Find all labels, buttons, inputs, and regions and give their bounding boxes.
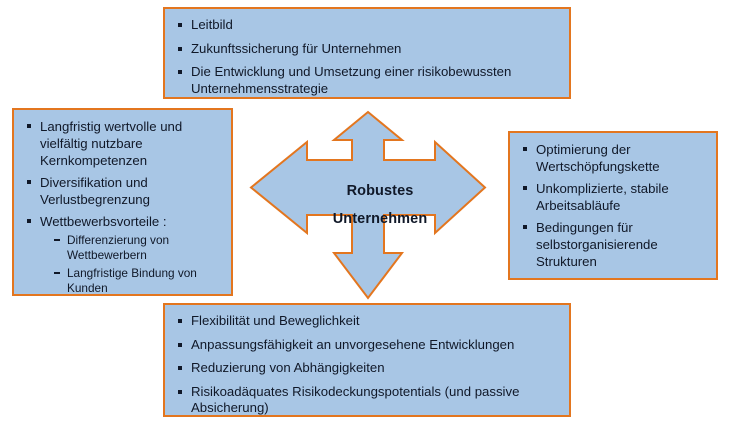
square-bullet-icon <box>523 147 527 151</box>
sub-list-item: Differenzierung von Wettbewerbern <box>54 233 221 263</box>
box-left-sub-bullet-list: Differenzierung von Wettbewerbern Langfr… <box>40 233 221 296</box>
four-way-arrow-polygon <box>251 112 485 298</box>
dash-bullet-icon <box>54 239 60 241</box>
dash-bullet-icon <box>54 272 60 274</box>
box-right: Optimierung der Wertschöpfungskette Unko… <box>508 131 718 280</box>
list-item: Anpassungsfähigkeit an unvorgesehene Ent… <box>177 337 559 354</box>
square-bullet-icon <box>178 366 182 370</box>
four-way-arrow-shape <box>248 110 488 300</box>
list-item: Bedingungen für selbstorganisierende Str… <box>522 219 706 270</box>
sub-list-item-text: Differenzierung von Wettbewerbern <box>67 233 169 262</box>
list-item: Langfristig wertvolle und vielfältig nut… <box>26 118 221 169</box>
list-item-text: Wettbewerbsvorteile : <box>40 214 167 229</box>
box-bottom-bullet-list: Flexibilität und Beweglichkeit Anpassung… <box>177 313 559 417</box>
box-left-bullet-list: Langfristig wertvolle und vielfältig nut… <box>26 118 221 296</box>
box-right-bullet-list: Optimierung der Wertschöpfungskette Unko… <box>522 141 706 270</box>
list-item: Zukunftssicherung für Unternehmen <box>177 41 559 58</box>
sub-list-item-text: Langfristige Bindung von Kunden <box>67 266 197 295</box>
square-bullet-icon <box>523 225 527 229</box>
list-item: Reduzierung von Abhängigkeiten <box>177 360 559 377</box>
list-item: Risikoadäquates Risikodeckungspotentials… <box>177 384 559 417</box>
square-bullet-icon <box>178 319 182 323</box>
list-item: Leitbild <box>177 17 559 34</box>
list-item-text: Optimierung der Wertschöpfungskette <box>536 142 660 174</box>
list-item-text: Langfristig wertvolle und vielfältig nut… <box>40 119 182 168</box>
list-item-text: Reduzierung von Abhängigkeiten <box>191 360 385 375</box>
list-item-text: Flexibilität und Beweglichkeit <box>191 313 360 328</box>
list-item: Wettbewerbsvorteile : Differenzierung vo… <box>26 213 221 296</box>
list-item-text: Zukunftssicherung für Unternehmen <box>191 41 401 56</box>
list-item-text: Diversifikation und Verlustbegrenzung <box>40 175 150 207</box>
box-left: Langfristig wertvolle und vielfältig nut… <box>12 108 233 296</box>
square-bullet-icon <box>523 186 527 190</box>
list-item: Die Entwicklung und Umsetzung einer risi… <box>177 64 559 97</box>
square-bullet-icon <box>178 47 182 51</box>
square-bullet-icon <box>178 390 182 394</box>
list-item-text: Bedingungen für selbstorganisierende Str… <box>536 220 658 269</box>
list-item-text: Die Entwicklung und Umsetzung einer risi… <box>191 64 511 96</box>
list-item-text: Unkomplizierte, stabile Arbeitsabläufe <box>536 181 669 213</box>
square-bullet-icon <box>27 180 31 184</box>
list-item: Optimierung der Wertschöpfungskette <box>522 141 706 175</box>
four-way-arrow-svg <box>248 110 488 300</box>
square-bullet-icon <box>27 124 31 128</box>
list-item-text: Risikoadäquates Risikodeckungspotentials… <box>191 384 519 416</box>
list-item: Unkomplizierte, stabile Arbeitsabläufe <box>522 180 706 214</box>
list-item-text: Anpassungsfähigkeit an unvorgesehene Ent… <box>191 337 514 352</box>
square-bullet-icon <box>27 219 31 223</box>
list-item: Flexibilität und Beweglichkeit <box>177 313 559 330</box>
sub-list-item: Langfristige Bindung von Kunden <box>54 266 221 296</box>
list-item-text: Leitbild <box>191 17 233 32</box>
box-bottom: Flexibilität und Beweglichkeit Anpassung… <box>163 303 571 417</box>
box-top: Leitbild Zukunftssicherung für Unternehm… <box>163 7 571 99</box>
square-bullet-icon <box>178 343 182 347</box>
box-top-bullet-list: Leitbild Zukunftssicherung für Unternehm… <box>177 17 559 97</box>
robustes-unternehmen-diagram: Leitbild Zukunftssicherung für Unternehm… <box>0 0 730 424</box>
list-item: Diversifikation und Verlustbegrenzung <box>26 174 221 208</box>
square-bullet-icon <box>178 70 182 74</box>
square-bullet-icon <box>178 23 182 27</box>
